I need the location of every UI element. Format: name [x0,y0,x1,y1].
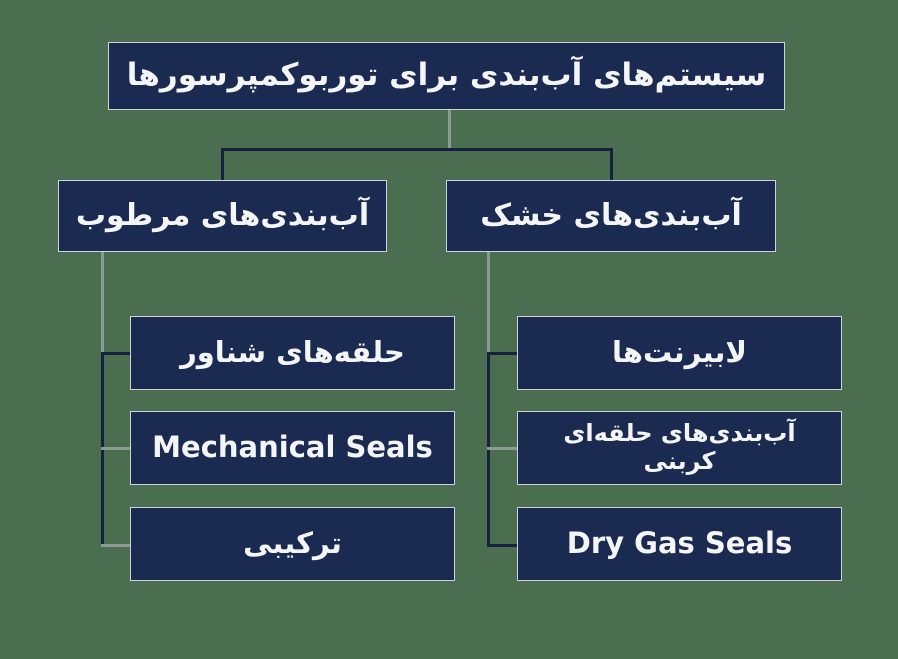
connector-root-bar [221,148,613,151]
connector-wet-to-floating-rings [101,352,132,355]
connector-root-stem [448,110,451,150]
connector-dry-spine-upper [487,252,490,353]
node-dry-seals[interactable]: آب‌بندی‌های خشک [446,180,776,252]
connector-wet-spine-upper [101,252,104,353]
connector-wet-to-mechanical-seals [101,447,132,450]
connector-wet-to-combined [101,544,132,547]
node-wet-seals[interactable]: آب‌بندی‌های مرطوب [58,180,387,252]
node-mechanical-seals[interactable]: Mechanical Seals [130,411,455,485]
diagram-canvas: سیستم‌های آب‌بندی برای توربوکمپرسورها آب… [0,0,898,659]
connector-root-to-wet [221,148,224,182]
node-floating-rings[interactable]: حلقه‌های شناور [130,316,455,390]
node-combined[interactable]: ترکیبی [130,507,455,581]
node-carbon-ring-seals[interactable]: آب‌بندی‌های حلقه‌ای کربنی [517,411,842,485]
connector-dry-to-carbon-ring-seals [487,447,518,450]
connector-root-to-dry [610,148,613,182]
node-root[interactable]: سیستم‌های آب‌بندی برای توربوکمپرسورها [108,42,785,110]
node-dry-gas-seals[interactable]: Dry Gas Seals [517,507,842,581]
node-labyrinths[interactable]: لابیرنت‌ها [517,316,842,390]
connector-dry-to-dry-gas-seals [487,544,518,547]
connector-dry-to-labyrinths [487,352,518,355]
